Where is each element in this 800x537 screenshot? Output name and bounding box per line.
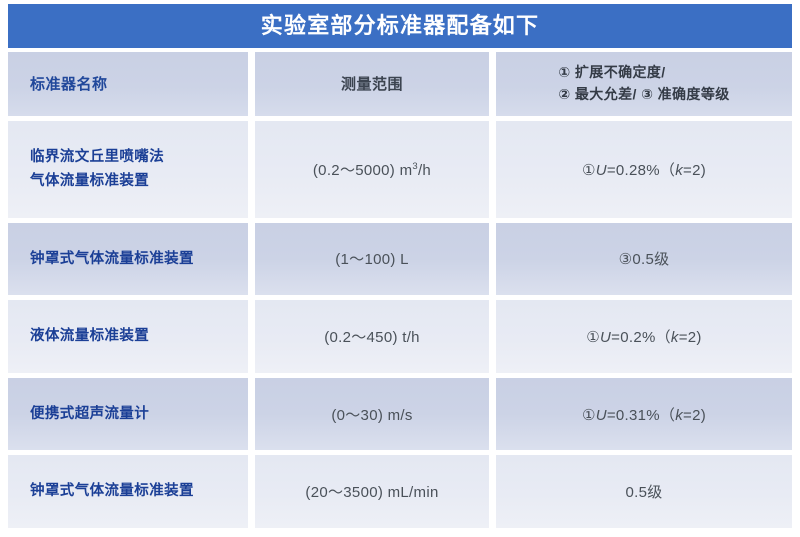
table-row: 钟罩式气体流量标准装置 (1～100) L ③0.5级 [8,223,792,296]
cell-uncertainty-symbol-k: k [671,329,679,346]
cell-uncertainty-value: =0.31%（ [607,407,675,424]
cell-uncertainty: 0.5级 [496,455,792,528]
cell-uncertainty-value: =0.2%（ [611,329,671,346]
cell-range-prefix: (20～3500) mL/min [305,484,438,501]
cell-uncertainty-end: =2) [679,329,702,346]
cell-name: 钟罩式气体流量标准装置 [8,455,248,528]
cell-name: 便携式超声流量计 [8,378,248,451]
cell-uncertainty-end: =2) [683,407,706,424]
column-header-uncertainty-line2: ② 最大允差/ ③ 准确度等级 [558,84,729,106]
table-row: 液体流量标准装置 (0.2～450) t/h ①U=0.2%（k=2) [8,300,792,373]
column-header-range-cell: 测量范围 [255,52,489,116]
cell-uncertainty-symbol-u: U [600,329,611,346]
cell-range: (0.2～5000) m3/h [255,121,489,218]
cell-uncertainty: ③0.5级 [496,223,792,296]
standards-table: 标准器名称 测量范围 ① 扩展不确定度/ ② 最大允差/ ③ 准确度等级 临界流… [8,52,792,528]
cell-uncertainty: ①U=0.2%（k=2) [496,300,792,373]
cell-name: 临界流文丘里喷嘴法 气体流量标准装置 [8,121,248,218]
cell-name-line2: 气体流量标准装置 [30,169,164,194]
column-header-range: 测量范围 [341,73,403,94]
page-title: 实验室部分标准器配备如下 [261,15,539,37]
cell-name: 液体流量标准装置 [8,300,248,373]
cell-range-suffix: /h [418,162,431,179]
cell-range: (1～100) L [255,223,489,296]
cell-name-line1: 便携式超声流量计 [30,402,149,427]
cell-uncertainty-symbol-u: U [596,162,607,179]
column-header-uncertainty: ① 扩展不确定度/ ② 最大允差/ ③ 准确度等级 [558,62,729,105]
cell-uncertainty-mark: 0.5级 [625,484,662,501]
cell-uncertainty-value: =0.28%（ [607,162,675,179]
cell-range-prefix: (0～30) m/s [331,407,412,424]
table-page: 实验室部分标准器配备如下 标准器名称 测量范围 ① 扩展不确定度/ ② 最大允差… [0,0,800,537]
column-header-name-cell: 标准器名称 [8,52,248,116]
column-header-name: 标准器名称 [30,73,108,94]
cell-uncertainty-mark: ① [582,407,596,424]
table-header-row: 标准器名称 测量范围 ① 扩展不确定度/ ② 最大允差/ ③ 准确度等级 [8,52,792,116]
cell-range-prefix: (0.2～5000) m [313,162,412,179]
cell-uncertainty-symbol-k: k [675,162,683,179]
cell-uncertainty-symbol-k: k [675,407,683,424]
cell-uncertainty-mark: ③0.5级 [619,251,670,268]
cell-uncertainty: ①U=0.28%（k=2) [496,121,792,218]
cell-range: (20～3500) mL/min [255,455,489,528]
table-row: 钟罩式气体流量标准装置 (20～3500) mL/min 0.5级 [8,455,792,528]
cell-name-line1: 液体流量标准装置 [30,324,149,349]
cell-uncertainty-mark: ① [586,329,600,346]
cell-name-line1: 钟罩式气体流量标准装置 [30,247,194,272]
cell-range-prefix: (1～100) L [335,251,409,268]
cell-name-line1: 钟罩式气体流量标准装置 [30,479,194,504]
cell-range: (0～30) m/s [255,378,489,451]
cell-name-line1: 临界流文丘里喷嘴法 [30,145,164,170]
column-header-uncertainty-cell: ① 扩展不确定度/ ② 最大允差/ ③ 准确度等级 [496,52,792,116]
cell-uncertainty-symbol-u: U [596,407,607,424]
table-row: 临界流文丘里喷嘴法 气体流量标准装置 (0.2～5000) m3/h ①U=0.… [8,121,792,218]
table-row: 便携式超声流量计 (0～30) m/s ①U=0.31%（k=2) [8,378,792,451]
cell-name: 钟罩式气体流量标准装置 [8,223,248,296]
cell-range-prefix: (0.2～450) t/h [324,329,420,346]
column-header-uncertainty-line1: ① 扩展不确定度/ [558,62,729,84]
cell-uncertainty: ①U=0.31%（k=2) [496,378,792,451]
cell-range: (0.2～450) t/h [255,300,489,373]
page-title-bar: 实验室部分标准器配备如下 [8,4,792,48]
cell-uncertainty-mark: ① [582,162,596,179]
cell-uncertainty-end: =2) [683,162,706,179]
